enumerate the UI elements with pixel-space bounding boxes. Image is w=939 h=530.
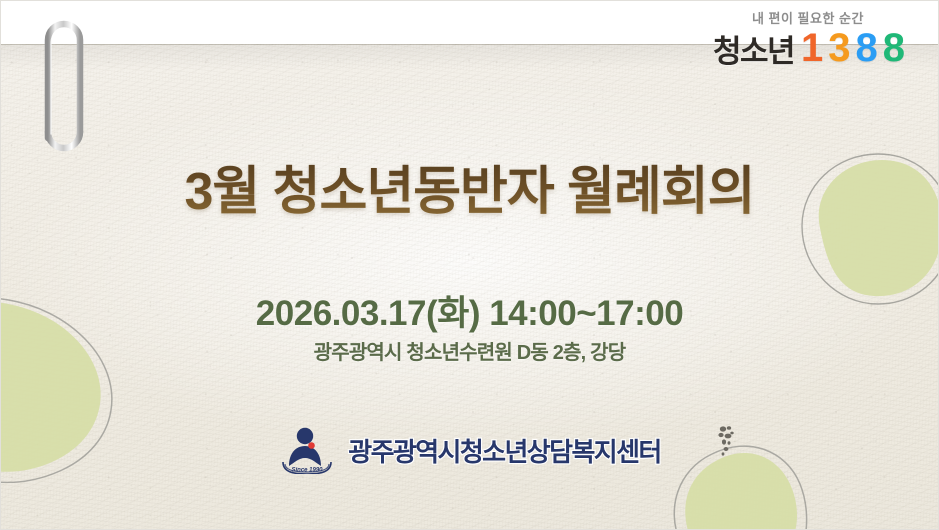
brand-wordmark-row: 청소년 1 3 8 8: [713, 30, 903, 67]
event-meta: 2026.03.17(화) 14:00~17:00 광주광역시 청소년수련원 D…: [0, 294, 939, 365]
footer-organization-logo: Since 1990 광주광역시청소년상담복지센터: [0, 424, 939, 479]
event-datetime: 2026.03.17(화) 14:00~17:00: [0, 294, 939, 334]
digit-3: 3: [828, 30, 848, 67]
brand-tagline: 내 편이 필요한 순간: [713, 12, 903, 25]
brand-lockup-1388: 내 편이 필요한 순간 청소년 1 3 8 8: [713, 12, 903, 67]
digit-8-blue: 8: [856, 30, 876, 67]
poster-canvas: 내 편이 필요한 순간 청소년 1 3 8 8 3월 청소년동반자 월례회의 2…: [0, 0, 939, 530]
page-title: 3월 청소년동반자 월례회의: [0, 163, 939, 221]
counseling-center-mark-icon: Since 1990: [278, 424, 336, 479]
since-label: Since 1990: [292, 467, 324, 473]
digit-1: 1: [801, 30, 821, 67]
digit-8-green: 8: [883, 30, 903, 67]
organization-name: 광주광역시청소년상담복지센터: [348, 439, 660, 465]
brand-word-youth: 청소년: [713, 36, 794, 67]
event-venue: 광주광역시 청소년수련원 D동 2층, 강당: [0, 341, 939, 365]
